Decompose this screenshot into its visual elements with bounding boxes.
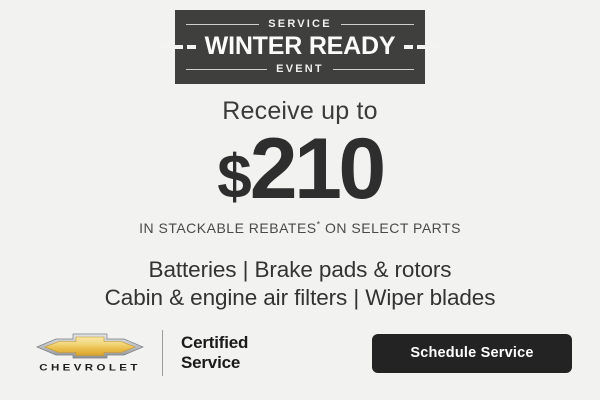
badge-title-row: WINTER READY bbox=[182, 34, 418, 59]
brand-divider bbox=[162, 330, 163, 376]
dashes-right-icon bbox=[404, 45, 439, 49]
currency-symbol: $ bbox=[217, 148, 249, 208]
advertisement-banner: SERVICE WINTER READY EVENT Receive up to… bbox=[0, 0, 600, 400]
badge-rule-right-top bbox=[341, 24, 414, 25]
badge-kicker-top: SERVICE bbox=[259, 19, 341, 30]
certified-line-1: Certified bbox=[181, 333, 248, 353]
certified-service-label: Certified Service bbox=[181, 333, 248, 373]
offer-amount: $210 bbox=[217, 128, 382, 211]
event-badge: SERVICE WINTER READY EVENT bbox=[175, 10, 425, 84]
certified-line-2: Service bbox=[181, 353, 248, 373]
badge-kicker-bottom-row: EVENT bbox=[186, 62, 414, 76]
chevrolet-wordmark: CHEVROLET bbox=[39, 364, 141, 373]
product-line-1: Batteries | Brake pads & rotors bbox=[105, 256, 496, 284]
badge-rule-right-bottom bbox=[333, 69, 414, 70]
brand-lockup: CHEVROLET Certified Service bbox=[34, 330, 248, 376]
badge-rule-left-top bbox=[186, 24, 259, 25]
amount-value: 210 bbox=[250, 128, 383, 211]
product-line-2: Cabin & engine air filters | Wiper blade… bbox=[105, 284, 496, 312]
rebate-disclaimer: IN STACKABLE REBATES* ON SELECT PARTS bbox=[139, 221, 461, 235]
badge-title: WINTER READY bbox=[196, 34, 405, 59]
badge-rule-left-bottom bbox=[186, 69, 267, 70]
product-list: Batteries | Brake pads & rotors Cabin & … bbox=[105, 256, 496, 313]
chevrolet-bowtie-icon bbox=[36, 332, 144, 360]
footer: CHEVROLET Certified Service Schedule Ser… bbox=[0, 330, 600, 376]
badge-kicker-bottom: EVENT bbox=[267, 64, 333, 75]
chevrolet-logo: CHEVROLET bbox=[34, 332, 146, 375]
badge-kicker-top-row: SERVICE bbox=[186, 17, 414, 31]
rebate-text-after: ON SELECT PARTS bbox=[321, 220, 461, 236]
dashes-left-icon bbox=[161, 45, 196, 49]
rebate-text-before: IN STACKABLE REBATES bbox=[139, 220, 317, 236]
schedule-service-button[interactable]: Schedule Service bbox=[372, 334, 572, 373]
